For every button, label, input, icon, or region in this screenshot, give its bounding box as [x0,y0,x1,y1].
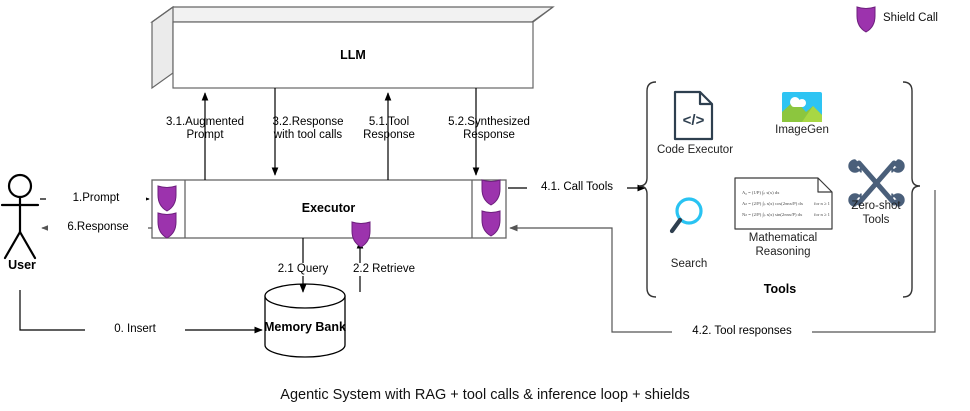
user-label: User [0,258,44,272]
llm-label: LLM [173,48,533,62]
memory-bank-label: Memory Bank [250,320,360,334]
svg-text:for n ≥ 1: for n ≥ 1 [814,212,831,217]
code-executor-icon: </> [675,92,712,139]
imagegen-icon [782,92,822,122]
mathematical-reasoning-icon: A₀ = (1/P) ∫ₚ s(x) dx Aₙ = (2/P) ∫ₚ s(x)… [735,178,832,229]
edge-label-call-tools: 4.1. Call Tools [527,181,627,194]
edge-label-tool-responses: 4.2. Tool responses [672,325,812,338]
tool-label-zero-shot-tools: Zero-shot Tools [836,200,916,227]
edge-label-insert: 0. Insert [85,323,185,336]
tools-group-label: Tools [735,282,825,296]
diagram-canvas: </> A₀ = (1/P) ∫ₚ s(x) dx Aₙ = (2/P) ∫ₚ … [0,0,970,411]
shield-icon-memory [352,222,370,247]
shield-icon-legend [857,7,875,32]
tool-label-search: Search [654,258,724,272]
edge-label-response: 6.Response [48,221,148,234]
search-icon [672,199,701,231]
tool-label-imagegen: ImageGen [762,124,842,138]
edge-label-query: 2.1 Query [258,263,348,276]
edge-label-synthesized-response: 5.2.Synthesized Response [424,116,554,142]
diagram-caption: Agentic System with RAG + tool calls & i… [0,387,970,403]
svg-text:</>: </> [683,112,705,129]
svg-text:for n ≥ 1: for n ≥ 1 [814,201,831,206]
executor-label: Executor [185,201,472,215]
user-stick-figure [2,175,38,258]
tool-label-code-executor: Code Executor [650,144,740,158]
tool-label-mathematical-reasoning: Mathematical Reasoning [728,232,838,259]
edge-label-prompt: 1.Prompt [46,192,146,205]
legend-shield-label: Shield Call [883,12,938,24]
edge-label-retrieve: 2.2 Retrieve [336,263,432,276]
